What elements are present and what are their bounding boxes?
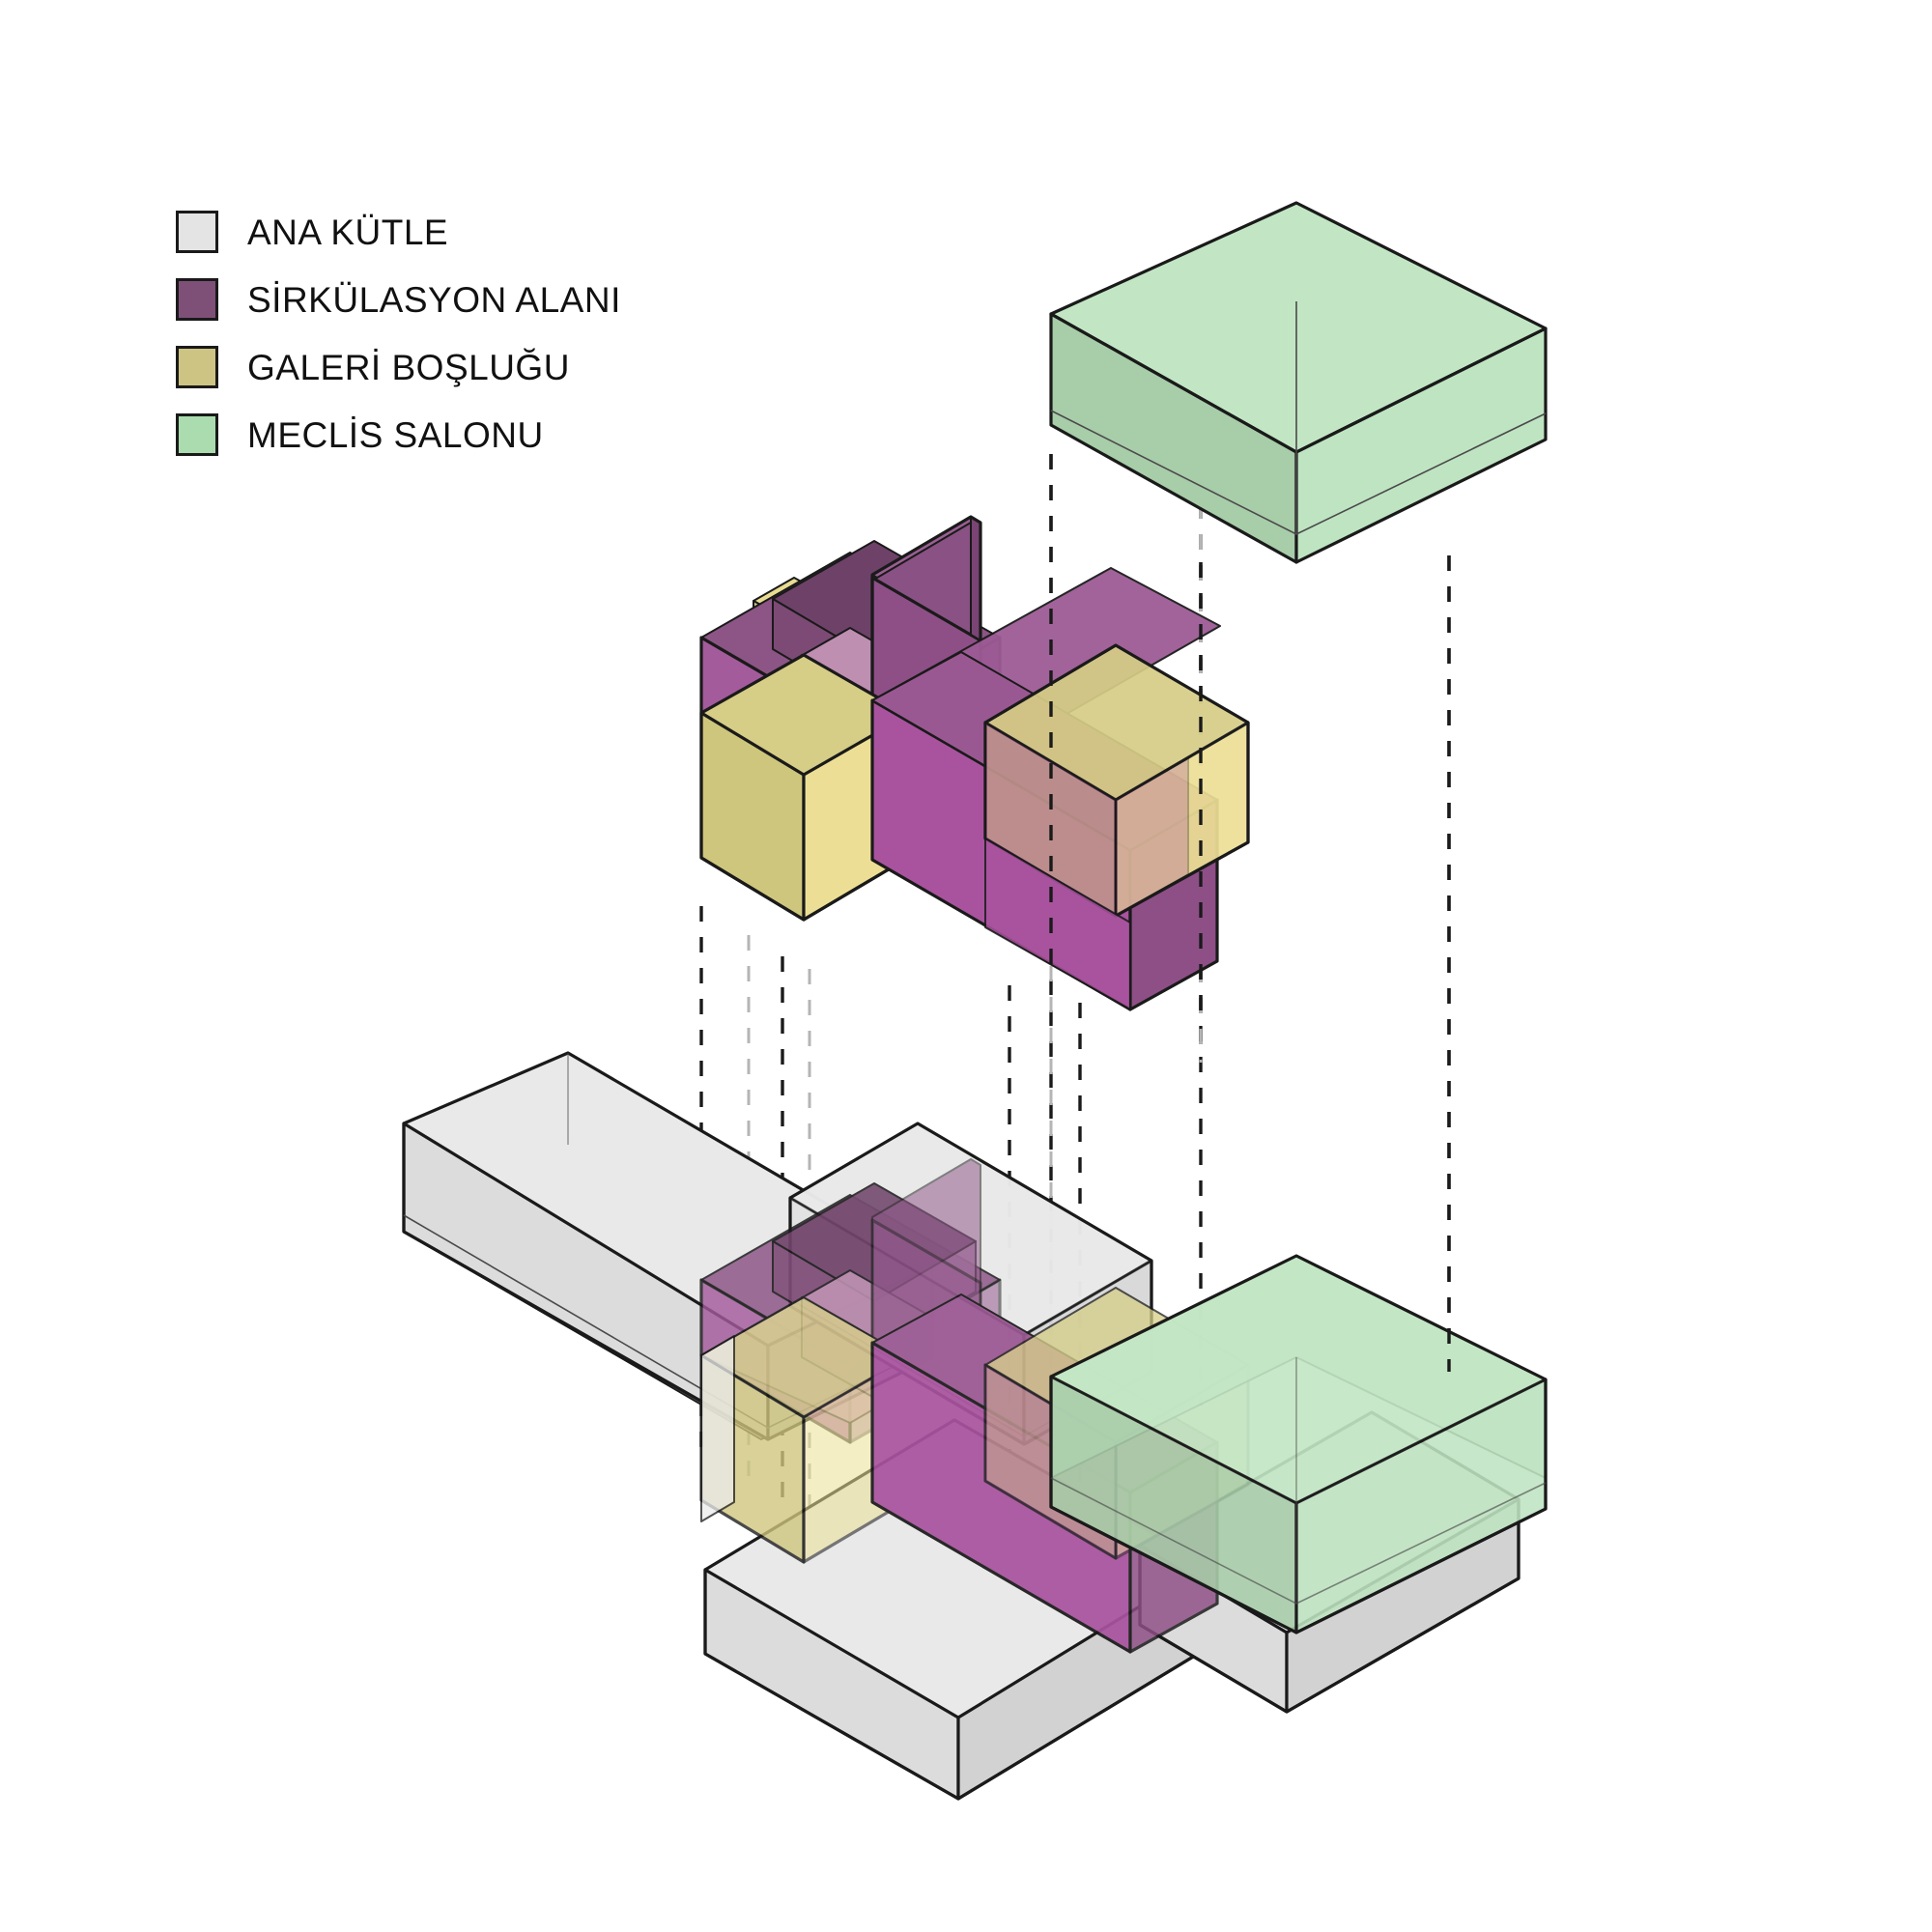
mass-assembly-hall-exploded[interactable] [1051, 203, 1546, 562]
mass-main-left-ghost-edge [701, 1336, 734, 1521]
mass-program-cluster-exploded[interactable] [701, 517, 1248, 1009]
axonometric-diagram: .ln { stroke:#1a1a1a; stroke-width:3.2; … [0, 0, 1932, 1932]
diagram-canvas: ANA KÜTLE SİRKÜLASYON ALANI GALERİ BOŞLU… [0, 0, 1932, 1932]
